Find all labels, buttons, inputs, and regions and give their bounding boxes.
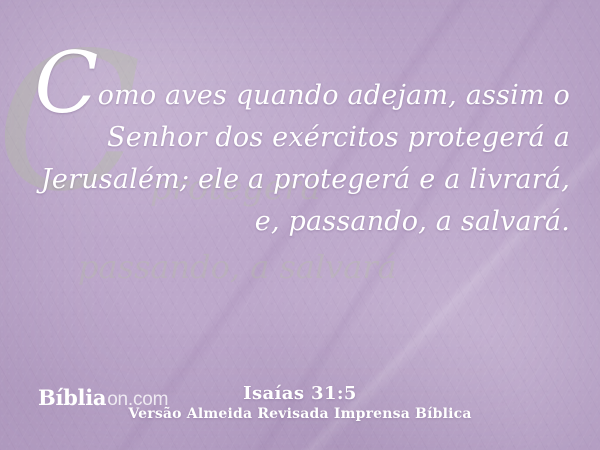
verse-text: Como aves quando adejam, assim o Senhor … [30, 58, 570, 243]
verse-body: omo aves quando adejam, assim o Senhor d… [41, 80, 570, 237]
verse-reference: Isaías 31:5 [0, 383, 600, 405]
verse-dropcap: C [34, 34, 96, 132]
attribution-block: Isaías 31:5 Versão Almeida Revisada Impr… [0, 383, 600, 424]
verse-card: C protegerá passando, a salvará Como ave… [0, 0, 600, 450]
bible-version: Versão Almeida Revisada Imprensa Bíblica [0, 405, 600, 424]
background-ghost-word-two: passando, a salvará [78, 248, 397, 286]
